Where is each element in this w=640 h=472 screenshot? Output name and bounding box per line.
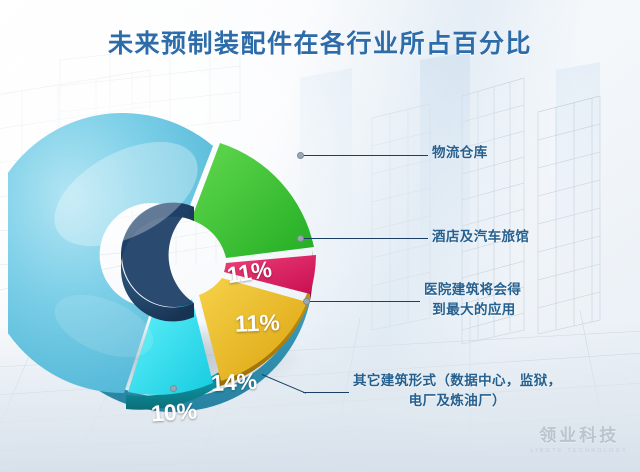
leader-dot-logistics — [297, 152, 304, 159]
leader-line-logistics — [300, 155, 428, 156]
callout-label-hospital: 医院建筑将会得 到最大的应用 — [424, 280, 521, 319]
watermark-en: LINGYE TECHNOLOGY — [530, 448, 628, 454]
donut-chart-svg — [8, 90, 338, 420]
leader-line-other-buildings — [303, 392, 349, 393]
callout-label-logistics: 物流仓库 — [432, 143, 488, 163]
page-title: 未来预制装配件在各行业所占百分比 — [0, 24, 640, 60]
donut-chart: 11% 11% 14% 10% — [8, 90, 338, 420]
watermark-cn: 领业科技 — [530, 421, 628, 446]
leader-dot-hospital — [303, 298, 310, 305]
leader-dot-other-buildings — [170, 385, 177, 392]
callout-label-hotels: 酒店及汽车旅馆 — [432, 227, 529, 247]
slice-hospital[interactable] — [199, 278, 307, 381]
watermark: 领业科技 LINGYE TECHNOLOGY — [530, 421, 628, 454]
leader-line-hospital — [306, 301, 420, 302]
callout-label-other-buildings: 其它建筑形式（数据中心，监狱， 电厂及炼油厂） — [353, 371, 562, 410]
leader-dot-hotels — [297, 235, 304, 242]
slice-logistics[interactable] — [191, 143, 314, 258]
slide-canvas: 未来预制装配件在各行业所占百分比 — [0, 0, 640, 472]
leader-line-hotels — [300, 238, 428, 239]
